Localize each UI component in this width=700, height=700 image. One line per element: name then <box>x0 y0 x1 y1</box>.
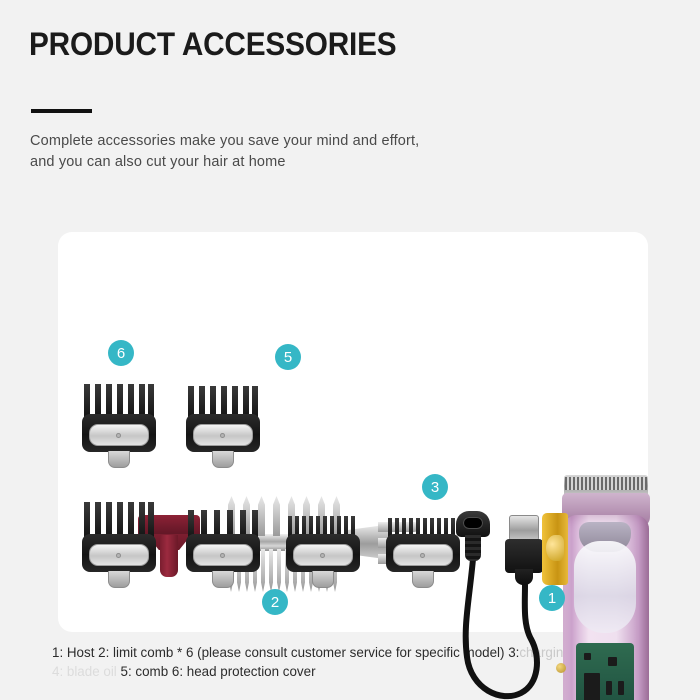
caption-line2-visible: 5: comb 6: head protection cover <box>121 664 316 679</box>
limit-comb-image <box>82 380 156 466</box>
caption-line2-faded: 4: blade oil <box>52 664 117 679</box>
badge-label: 6 <box>117 346 125 361</box>
limit-comb-image <box>186 380 260 466</box>
product-accessories-page: PRODUCT ACCESSORIES Complete accessories… <box>0 0 700 700</box>
limit-comb-image <box>286 500 360 586</box>
title-divider-rule <box>31 109 92 113</box>
caption-line1-visible: 1: Host 2: limit comb * 6 (please consul… <box>52 645 519 660</box>
badge-label: 2 <box>271 595 279 610</box>
badge-label: 5 <box>284 350 292 365</box>
limit-comb-image <box>186 500 260 586</box>
badge-1[interactable]: 1 <box>539 585 565 611</box>
badge-label: 3 <box>431 480 439 495</box>
page-subtitle: Complete accessories make you save your … <box>30 131 550 173</box>
badge-6[interactable]: 6 <box>108 340 134 366</box>
host-clipper-image: 88 <box>550 475 660 700</box>
badge-3[interactable]: 3 <box>422 474 448 500</box>
page-title: PRODUCT ACCESSORIES <box>29 26 396 63</box>
badge-label: 1 <box>548 591 556 606</box>
accessories-card: 88 6 5 3 2 1 <box>58 232 648 632</box>
limit-comb-image <box>386 500 460 586</box>
badge-5[interactable]: 5 <box>275 344 301 370</box>
limit-comb-image <box>82 500 156 586</box>
badge-2[interactable]: 2 <box>262 589 288 615</box>
